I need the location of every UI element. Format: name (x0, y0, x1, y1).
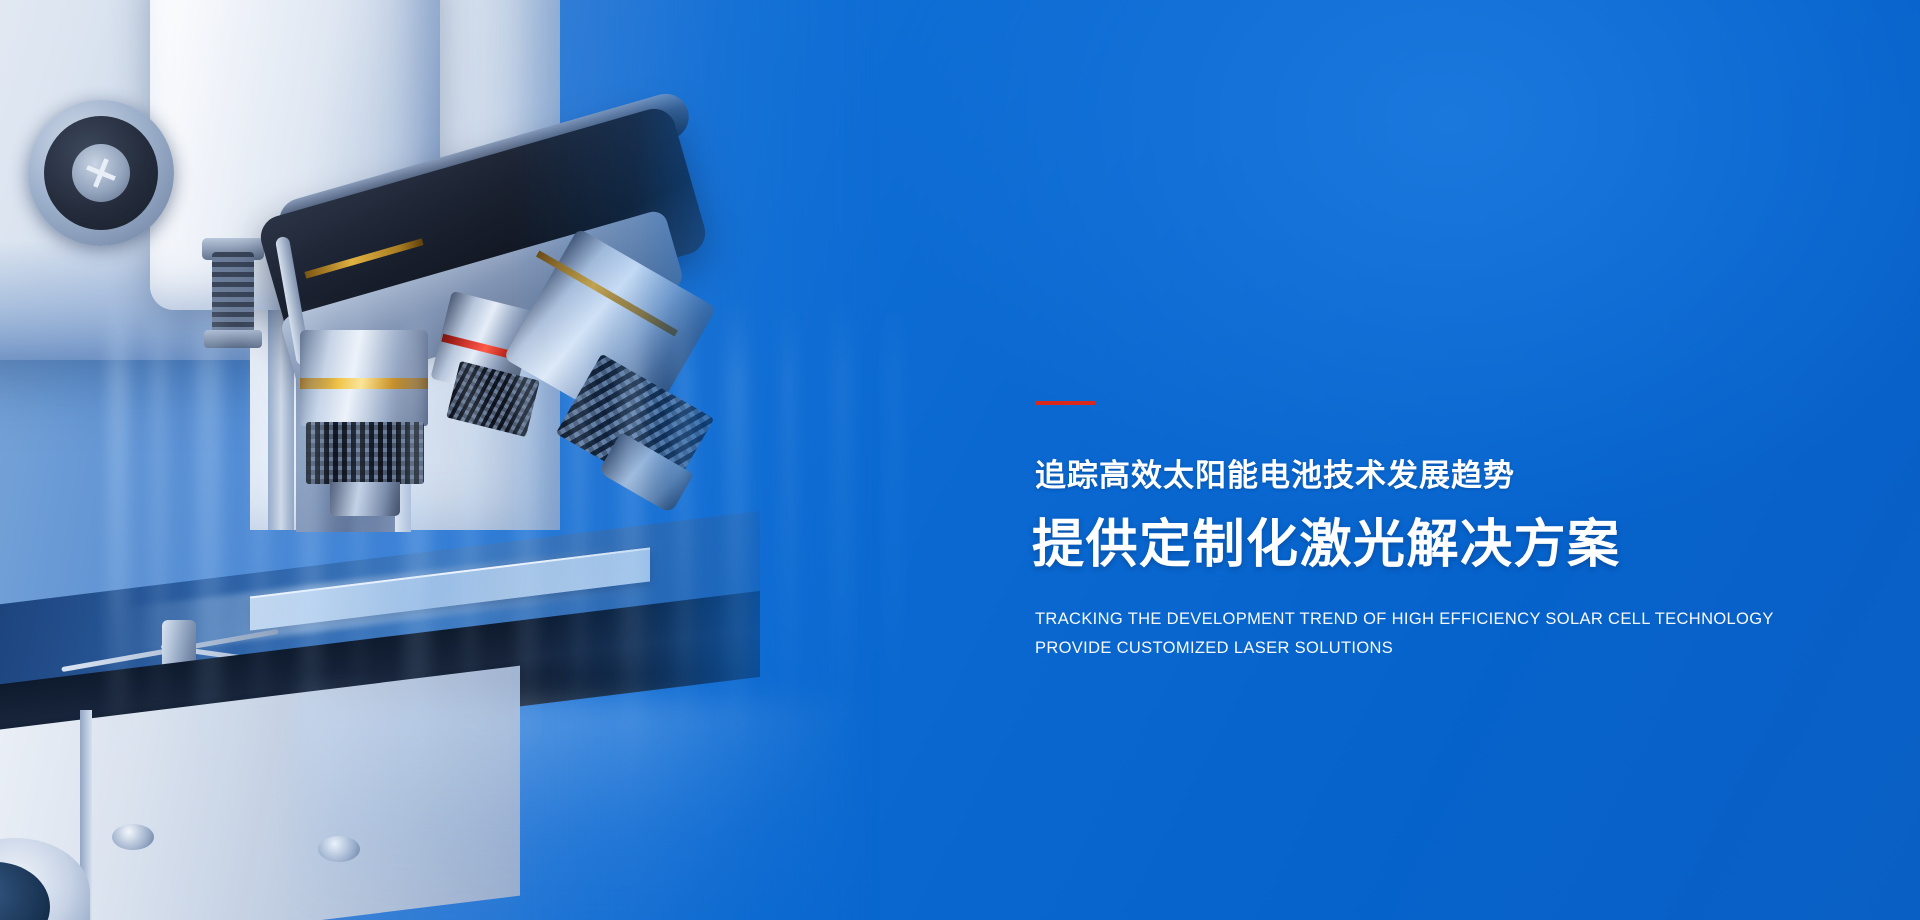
base-bolt-left (112, 824, 154, 850)
hero-banner: 追踪高效太阳能电池技术发展趋势 提供定制化激光解决方案 TRACKING THE… (0, 0, 1920, 920)
english-subtitle-line-2: PROVIDE CUSTOMIZED LASER SOLUTIONS (1035, 639, 1393, 658)
english-subtitle-line-1: TRACKING THE DEVELOPMENT TREND OF HIGH E… (1035, 610, 1774, 629)
stage-reflection-glow (300, 700, 860, 920)
objective-gold-band (300, 378, 428, 389)
red-accent-rule (1035, 401, 1095, 405)
objective-front-knurling (306, 422, 424, 484)
adjustment-screw-shaft (212, 252, 254, 338)
microscope-photo (0, 0, 880, 920)
headline-main: 提供定制化激光解决方案 (1032, 516, 1621, 576)
headline-subtitle: 追踪高效太阳能电池技术发展趋势 (1035, 458, 1515, 494)
objective-front-tip (330, 482, 400, 516)
adjustment-screw-foot (204, 330, 262, 348)
light-streak (886, 300, 902, 720)
hero-text-block: 追踪高效太阳能电池技术发展趋势 提供定制化激光解决方案 TRACKING THE… (1035, 0, 1795, 920)
